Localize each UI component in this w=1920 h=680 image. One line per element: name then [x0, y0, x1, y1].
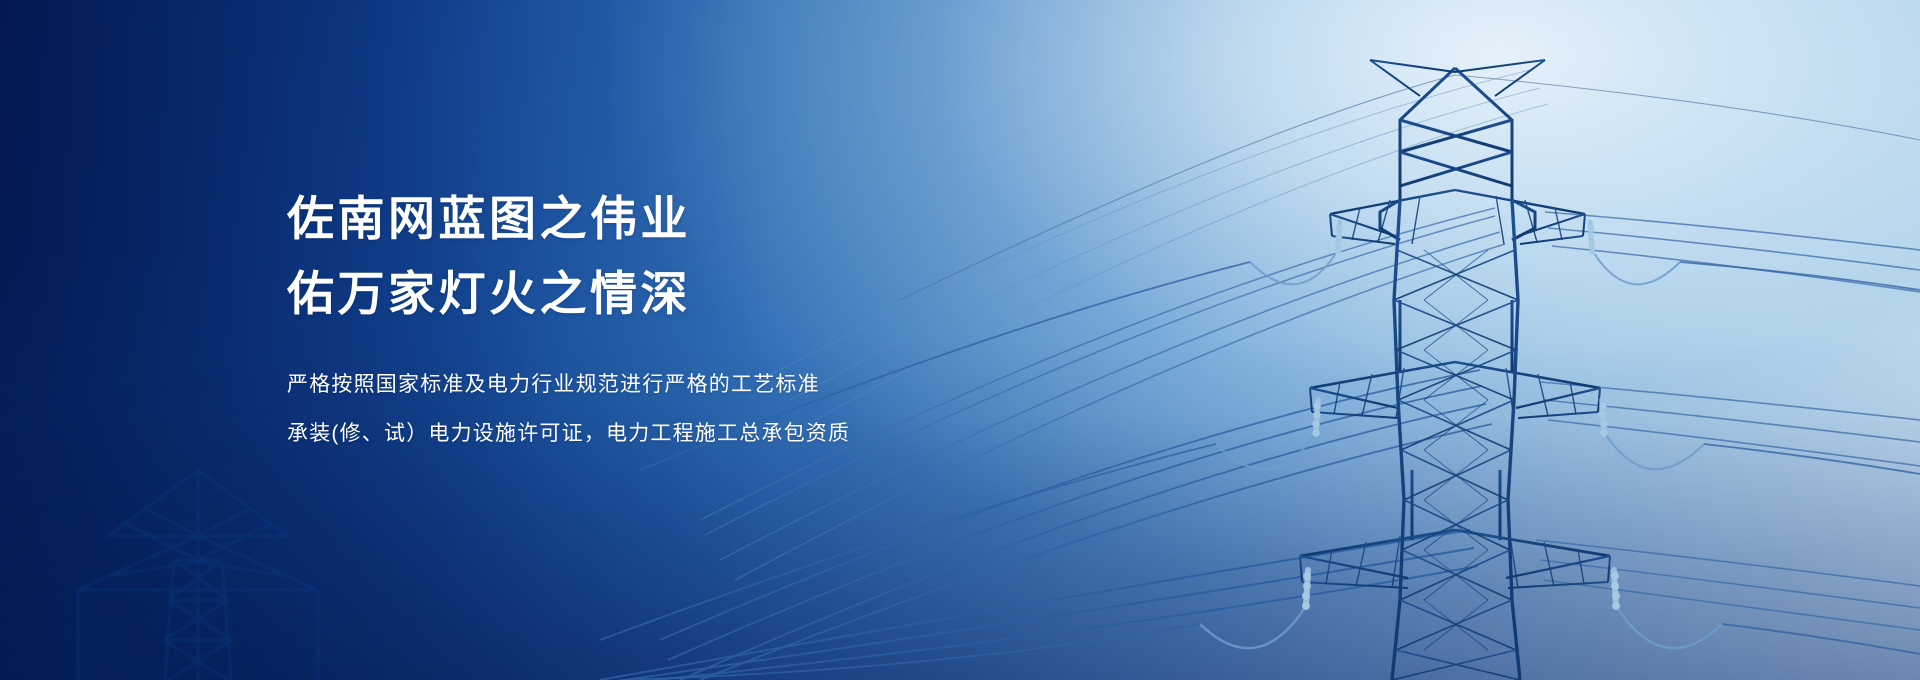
banner-copy: 佐南网蓝图之伟业 佑万家灯火之情深 严格按照国家标准及电力行业规范进行严格的工艺… [287, 185, 1047, 446]
headline-line-1: 佐南网蓝图之伟业 [287, 185, 1047, 253]
headline-line-2: 佑万家灯火之情深 [287, 260, 1047, 328]
hero-banner: 佐南网蓝图之伟业 佑万家灯火之情深 严格按照国家标准及电力行业规范进行严格的工艺… [0, 0, 1920, 680]
subtitle-line-2: 承装(修、试）电力设施许可证，电力工程施工总承包资质 [287, 421, 1047, 446]
subtitle-line-1: 严格按照国家标准及电力行业规范进行严格的工艺标准 [287, 372, 1047, 397]
subtitle-block: 严格按照国家标准及电力行业规范进行严格的工艺标准 承装(修、试）电力设施许可证，… [287, 372, 1047, 446]
